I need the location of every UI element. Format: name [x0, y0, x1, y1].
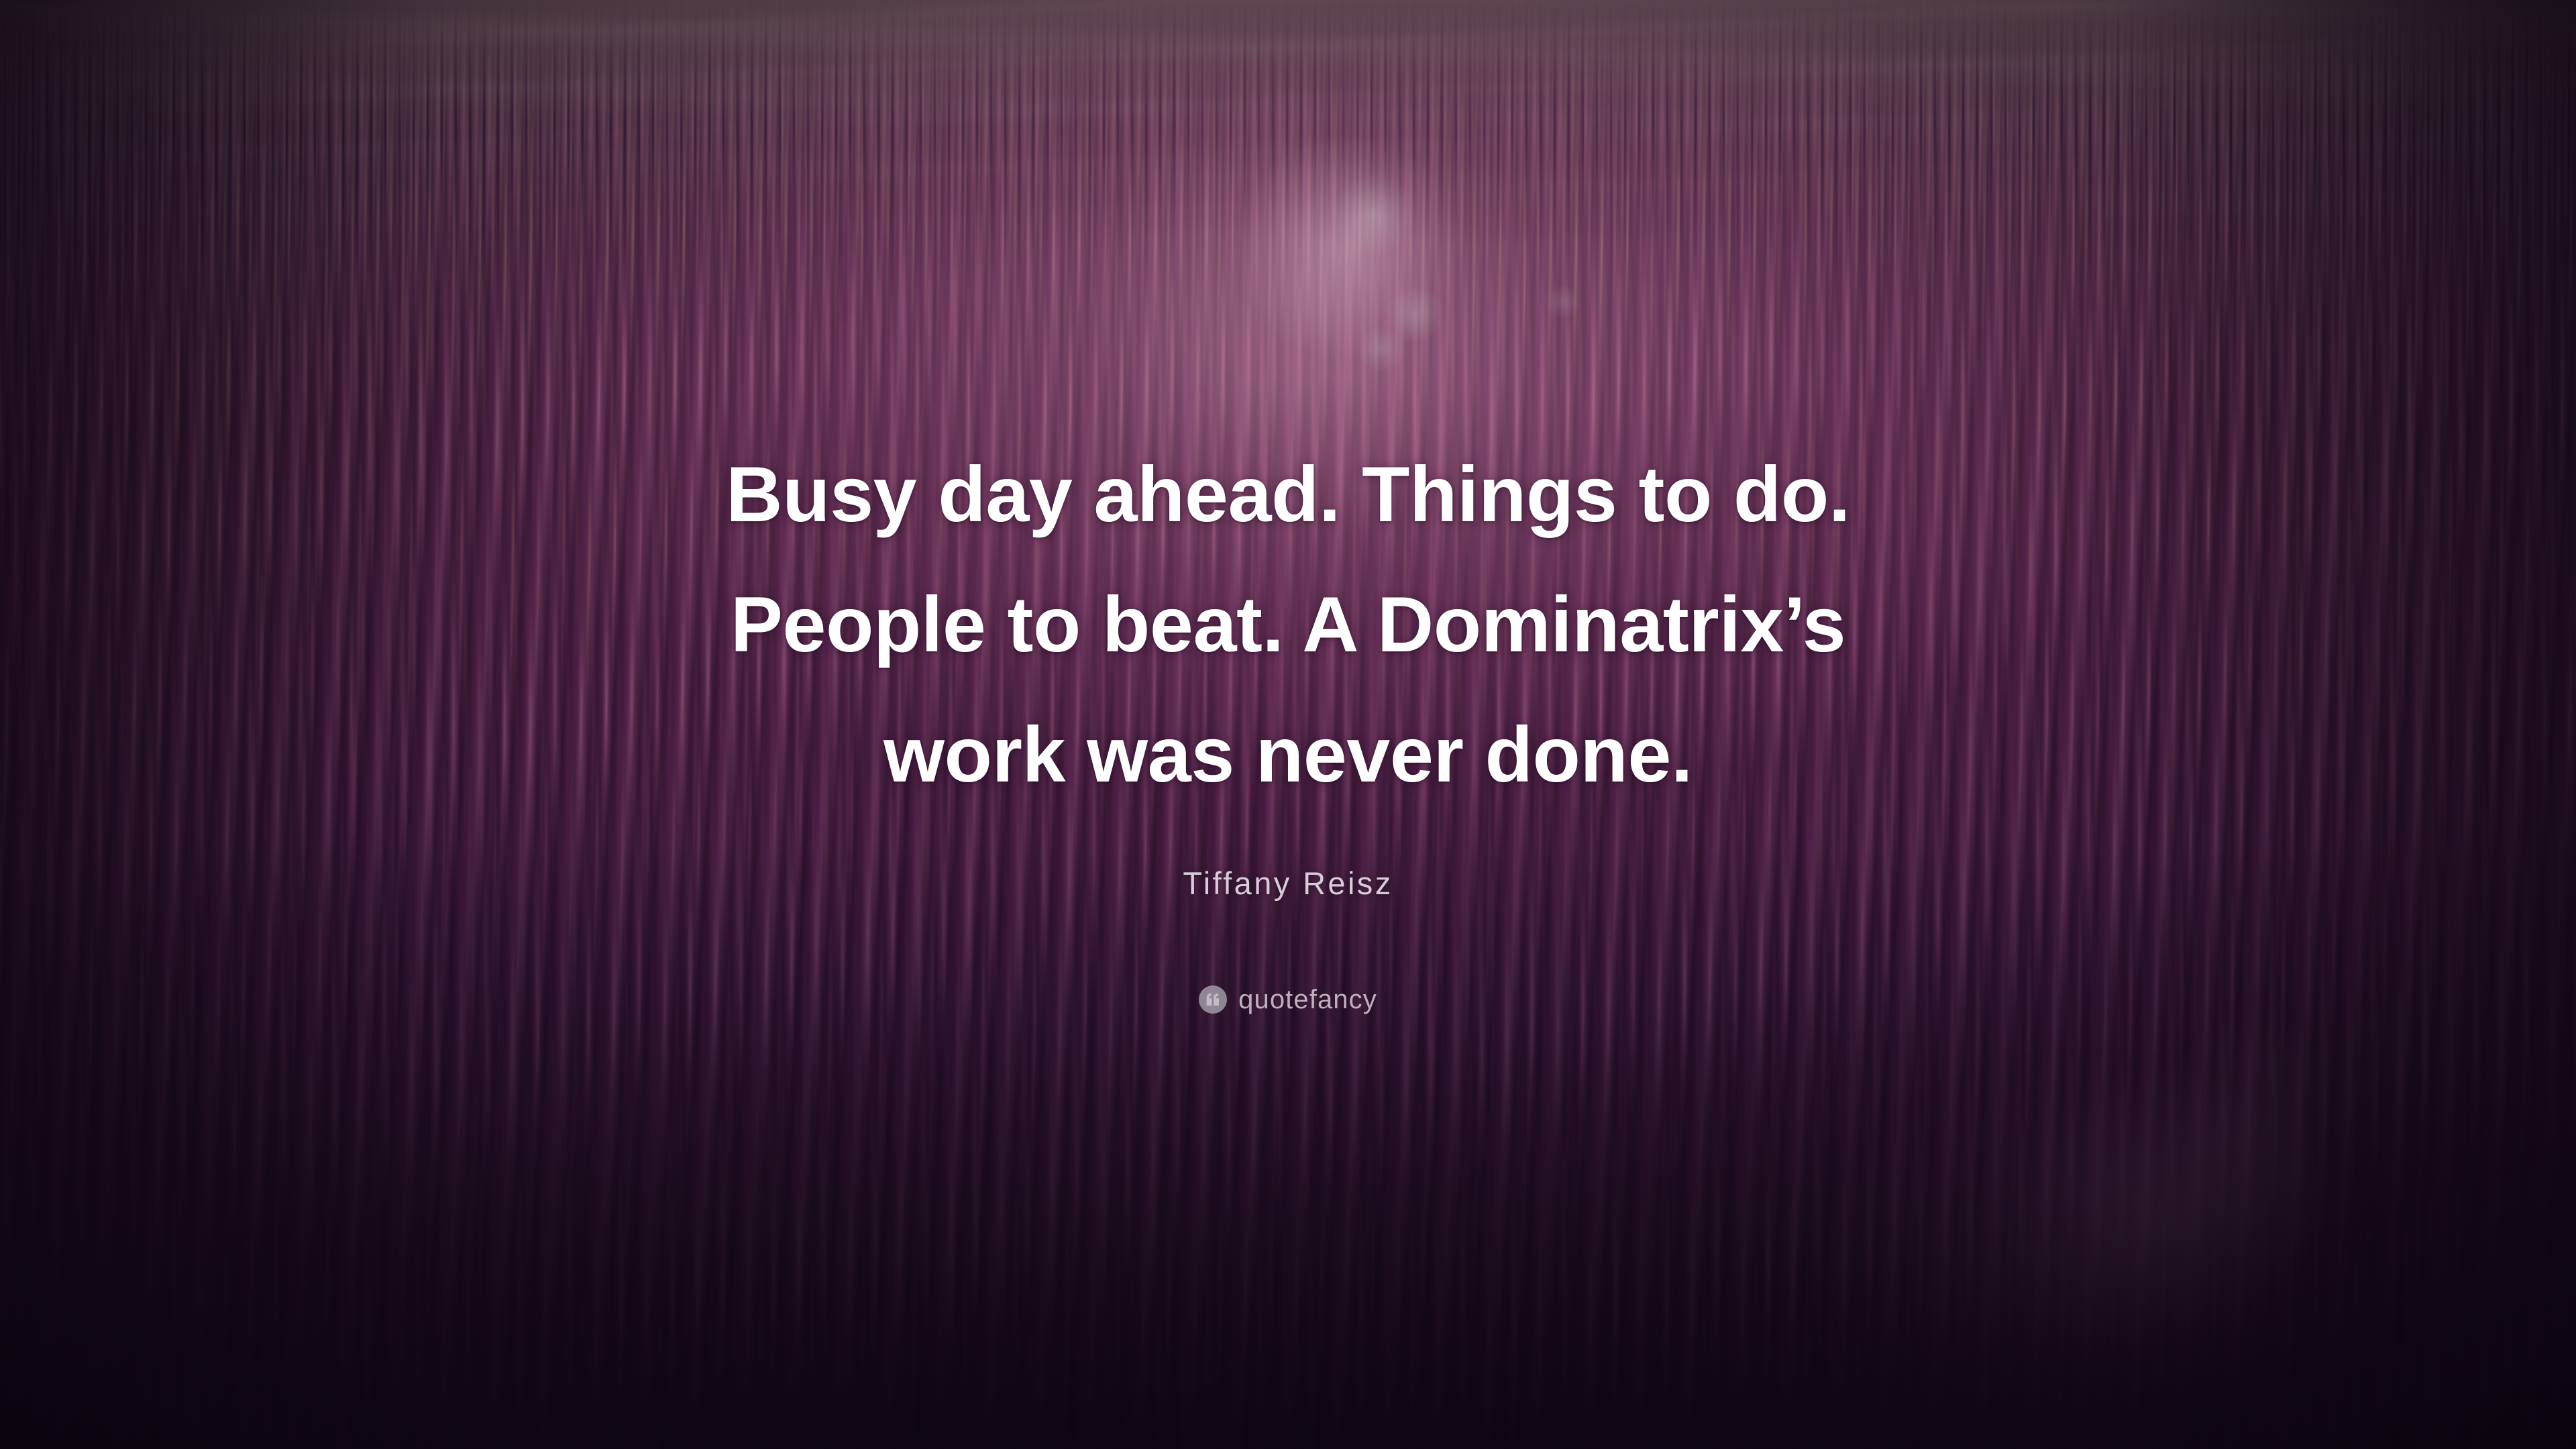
author-attribution: Tiffany Reisz	[1183, 865, 1393, 902]
quote-line-1: Busy day ahead. Things to do.	[557, 429, 2019, 559]
quote-poster: Busy day ahead. Things to do. People to …	[0, 0, 2576, 1449]
quote-line-2: People to beat. A Dominatrix’s	[557, 559, 2019, 690]
quote-line-3: work was never done.	[557, 690, 2019, 820]
watermark-brand-label: quotefancy	[1238, 985, 1377, 1015]
poster-content: Busy day ahead. Things to do. People to …	[0, 0, 2576, 1449]
double-quote-icon	[1199, 985, 1227, 1014]
quotefancy-watermark[interactable]: quotefancy	[1199, 985, 1377, 1015]
quote-text-block: Busy day ahead. Things to do. People to …	[557, 429, 2019, 820]
